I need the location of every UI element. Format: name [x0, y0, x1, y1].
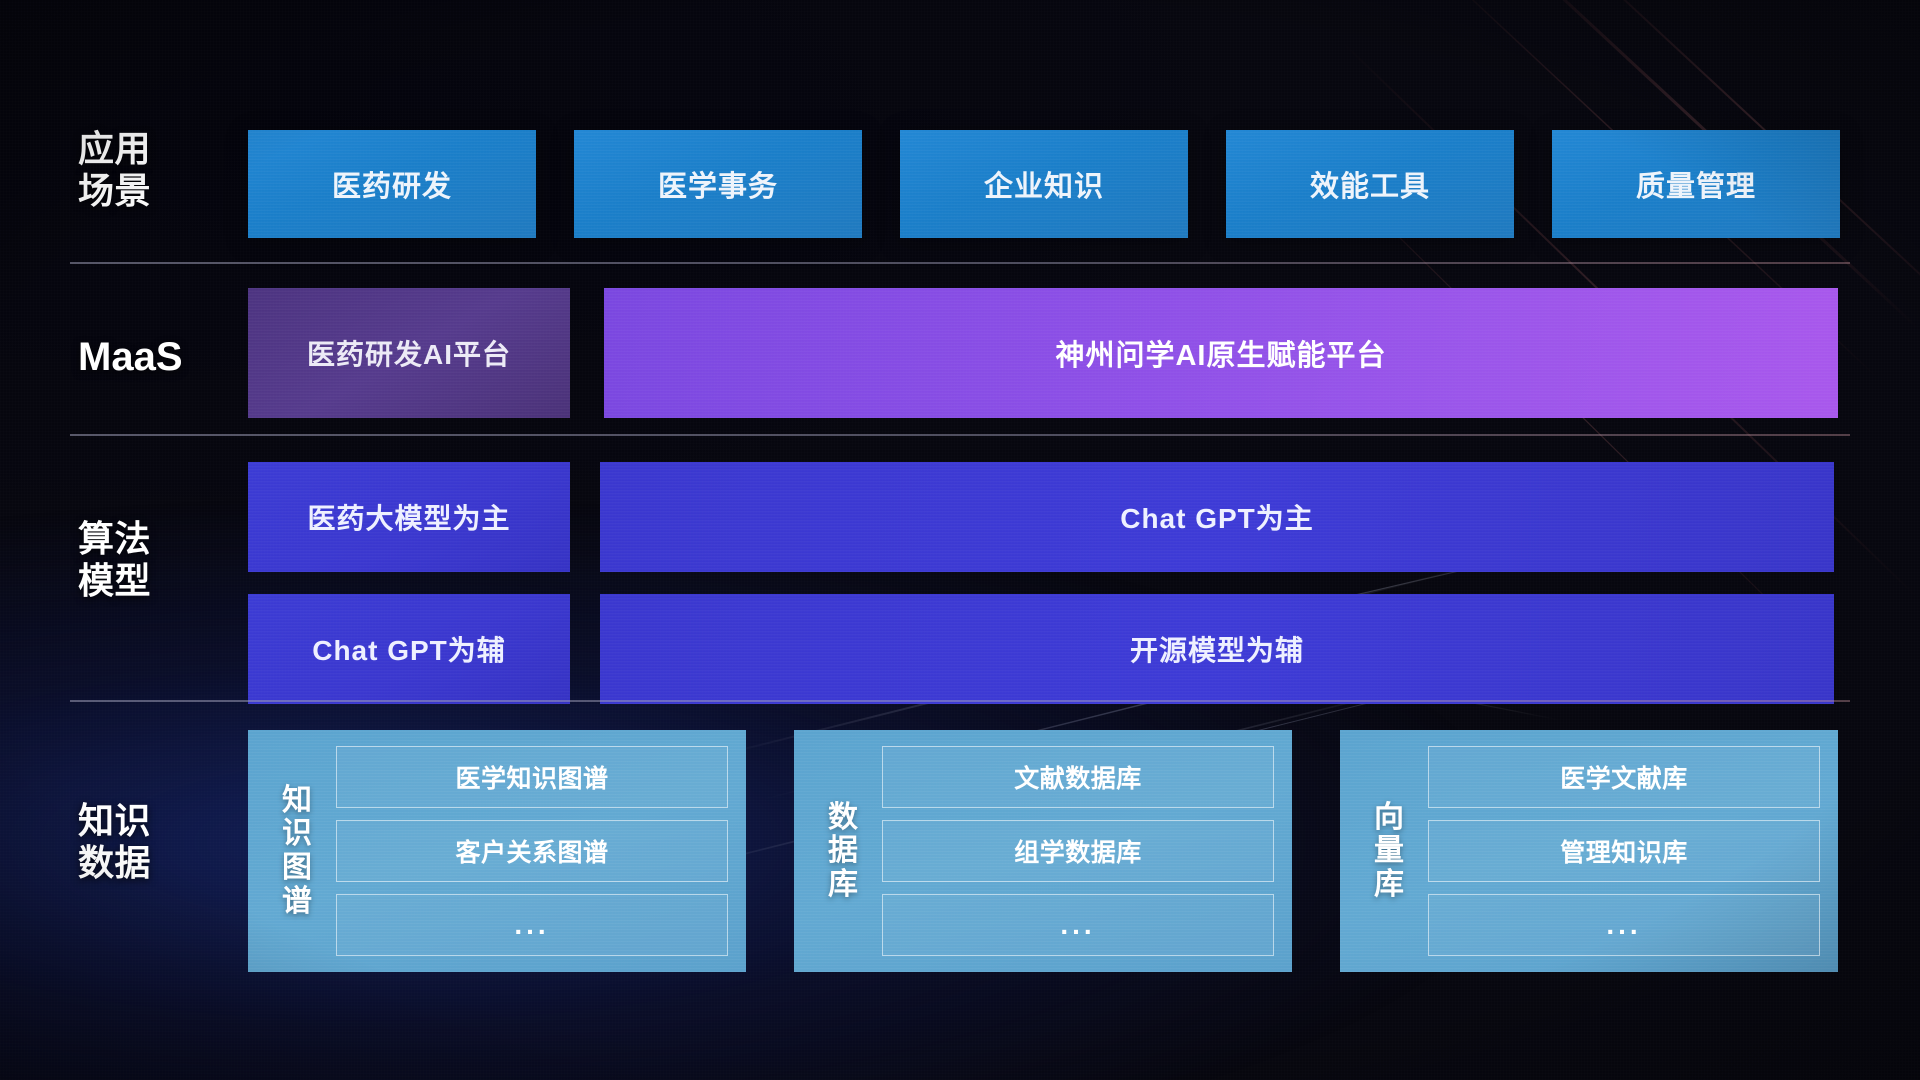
knowledge-item-literature-db[interactable]: 文献数据库 [882, 746, 1274, 808]
knowledge-item-label: ... [1606, 909, 1641, 941]
divider-after-algorithm [70, 700, 1850, 702]
algo-box-chatgpt-secondary[interactable]: Chat GPT为辅 [248, 594, 570, 704]
row-label-line: 数据 [78, 842, 238, 884]
knowledge-item-more[interactable]: ... [336, 894, 728, 956]
maas-boxes: 医药研发AI平台 神州问学AI原生赋能平台 [248, 288, 1838, 418]
app-box-label: 企业知识 [984, 163, 1104, 205]
app-box-enterprise-knowledge[interactable]: 企业知识 [900, 130, 1188, 238]
vlabel-char: 数 [828, 801, 858, 835]
knowledge-item-label: ... [514, 909, 549, 941]
row-label-line: 知识 [78, 800, 238, 842]
knowledge-item-label: 文献数据库 [1014, 759, 1142, 795]
app-box-medical-affairs[interactable]: 医学事务 [574, 130, 862, 238]
knowledge-item-label: 医学知识图谱 [455, 759, 608, 795]
row-label-line: 场景 [78, 170, 238, 212]
vlabel-char: 量 [1374, 834, 1404, 868]
knowledge-item-customer-graph[interactable]: 客户关系图谱 [336, 820, 728, 882]
row-label-maas: MaaS [78, 334, 238, 381]
app-box-label: 医药研发 [332, 163, 452, 205]
algorithm-model-boxes: 医药大模型为主 Chat GPT为主 Chat GPT为辅 开源模型为辅 [248, 462, 1834, 704]
maas-box-shenzhou-platform[interactable]: 神州问学AI原生赋能平台 [604, 288, 1838, 418]
row-label-line: 算法 [78, 518, 238, 560]
knowledge-panels: 知 识 图 谱 医学知识图谱 客户关系图谱 ... 数 据 [248, 730, 1838, 972]
vlabel-char: 图 [282, 851, 312, 885]
app-box-label: 医学事务 [658, 163, 778, 205]
row-label-line: 模型 [78, 560, 238, 602]
slide-canvas: 应用 场景 医药研发 医学事务 企业知识 效能工具 质量管理 MaaS 医药研发… [0, 0, 1920, 1080]
knowledge-item-medical-graph[interactable]: 医学知识图谱 [336, 746, 728, 808]
knowledge-panel-items: 医学知识图谱 客户关系图谱 ... [336, 746, 728, 956]
application-scenario-boxes: 医药研发 医学事务 企业知识 效能工具 质量管理 [248, 130, 1840, 238]
vlabel-char: 知 [282, 784, 312, 818]
algorithm-row-primary: 医药大模型为主 Chat GPT为主 [248, 462, 1834, 572]
knowledge-item-label: 管理知识库 [1560, 833, 1688, 869]
divider-after-maas [70, 434, 1850, 436]
knowledge-item-medical-literature[interactable]: 医学文献库 [1428, 746, 1820, 808]
knowledge-item-label: 医学文献库 [1560, 759, 1688, 795]
knowledge-panel-graph: 知 识 图 谱 医学知识图谱 客户关系图谱 ... [248, 730, 746, 972]
vlabel-char: 库 [828, 868, 858, 902]
maas-box-drug-ai-platform[interactable]: 医药研发AI平台 [248, 288, 570, 418]
algo-box-label: 医药大模型为主 [307, 497, 510, 537]
algo-box-opensource-secondary[interactable]: 开源模型为辅 [600, 594, 1834, 704]
row-label-line: MaaS [78, 334, 238, 381]
divider-after-application [70, 262, 1850, 264]
app-box-drug-rd[interactable]: 医药研发 [248, 130, 536, 238]
knowledge-panel-vertical-label: 数 据 库 [804, 746, 882, 956]
app-box-efficiency-tools[interactable]: 效能工具 [1226, 130, 1514, 238]
algo-box-chatgpt-primary[interactable]: Chat GPT为主 [600, 462, 1834, 572]
knowledge-panel-items: 文献数据库 组学数据库 ... [882, 746, 1274, 956]
row-label-knowledge-data: 知识 数据 [78, 800, 238, 885]
row-label-algorithm-model: 算法 模型 [78, 518, 238, 603]
knowledge-panel-items: 医学文献库 管理知识库 ... [1428, 746, 1820, 956]
row-label-line: 应用 [78, 128, 238, 170]
app-box-label: 效能工具 [1310, 163, 1430, 205]
algo-box-label: Chat GPT为主 [1120, 497, 1314, 537]
knowledge-panel-database: 数 据 库 文献数据库 组学数据库 ... [794, 730, 1292, 972]
knowledge-item-label: ... [1060, 909, 1095, 941]
knowledge-item-omics-db[interactable]: 组学数据库 [882, 820, 1274, 882]
knowledge-item-management-knowledge[interactable]: 管理知识库 [1428, 820, 1820, 882]
knowledge-panel-vertical-label: 向 量 库 [1350, 746, 1428, 956]
vlabel-char: 库 [1374, 868, 1404, 902]
knowledge-item-more[interactable]: ... [1428, 894, 1820, 956]
algo-box-label: 开源模型为辅 [1130, 629, 1304, 669]
app-box-quality-management[interactable]: 质量管理 [1552, 130, 1840, 238]
knowledge-panel-vector-store: 向 量 库 医学文献库 管理知识库 ... [1340, 730, 1838, 972]
maas-box-label: 医药研发AI平台 [307, 333, 511, 373]
knowledge-item-label: 客户关系图谱 [455, 833, 608, 869]
vlabel-char: 向 [1374, 801, 1404, 835]
algorithm-row-secondary: Chat GPT为辅 开源模型为辅 [248, 594, 1834, 704]
knowledge-item-label: 组学数据库 [1014, 833, 1142, 869]
knowledge-panel-vertical-label: 知 识 图 谱 [258, 746, 336, 956]
knowledge-item-more[interactable]: ... [882, 894, 1274, 956]
vlabel-char: 谱 [282, 885, 312, 919]
vlabel-char: 识 [282, 817, 312, 851]
algo-box-drug-llm-primary[interactable]: 医药大模型为主 [248, 462, 570, 572]
vlabel-char: 据 [828, 834, 858, 868]
maas-box-label: 神州问学AI原生赋能平台 [1055, 332, 1386, 374]
algo-box-label: Chat GPT为辅 [312, 629, 506, 669]
app-box-label: 质量管理 [1636, 163, 1756, 205]
row-label-application-scenario: 应用 场景 [78, 128, 238, 213]
